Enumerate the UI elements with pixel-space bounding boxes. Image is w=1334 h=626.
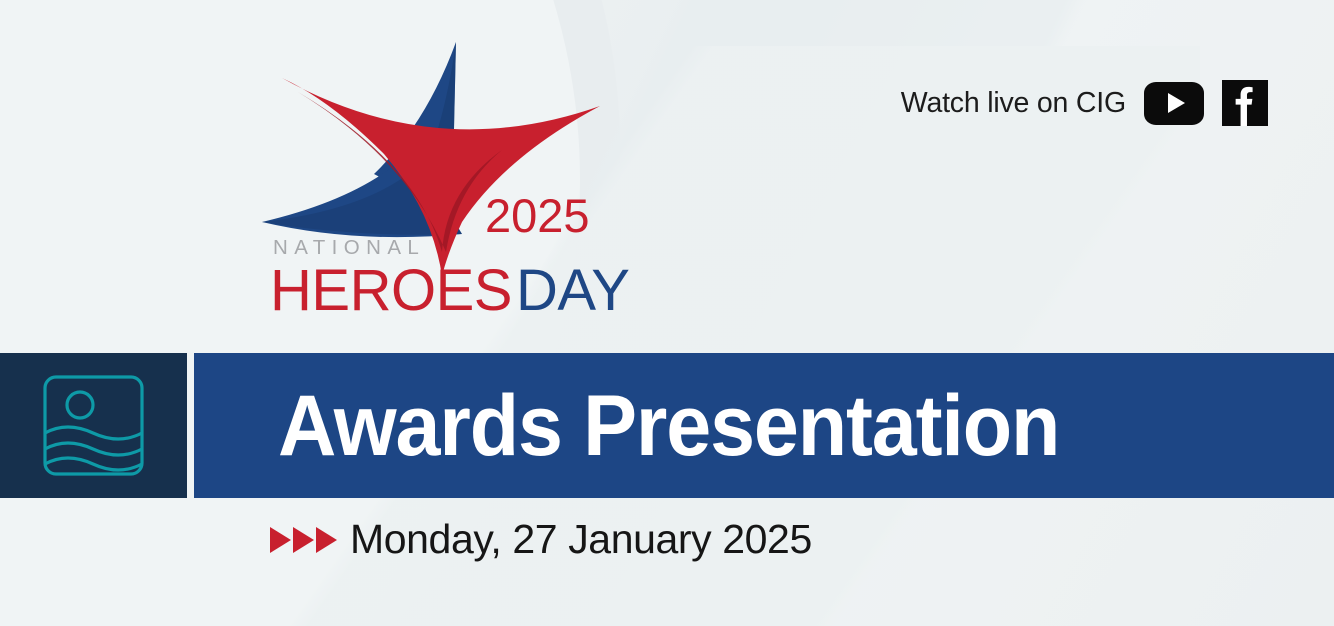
image-landscape-icon xyxy=(41,373,146,478)
banner-icon-panel xyxy=(0,353,187,498)
event-dateline: Monday, 27 January 2025 xyxy=(270,516,812,563)
watch-live-label: Watch live on CIG xyxy=(901,87,1126,120)
arrow-2-icon xyxy=(293,527,314,553)
youtube-icon[interactable] xyxy=(1144,82,1204,125)
logo-year: 2025 xyxy=(485,192,590,239)
banner-row: Awards Presentation xyxy=(0,353,1334,498)
play-triangle-icon xyxy=(1168,93,1185,113)
banner-title-panel: Awards Presentation xyxy=(194,353,1334,498)
arrow-1-icon xyxy=(270,527,291,553)
logo-word-heroes: HEROES xyxy=(270,262,512,320)
logo-wordmark: NATIONAL HEROES DAY 2025 xyxy=(270,238,600,320)
facebook-icon[interactable] xyxy=(1222,80,1268,126)
logo-word-day: DAY xyxy=(516,262,629,320)
event-banner-graphic: NATIONAL HEROES DAY 2025 Watch live on C… xyxy=(0,0,1334,626)
watch-live-group: Watch live on CIG xyxy=(901,80,1268,126)
facebook-f-glyph xyxy=(1222,80,1268,126)
page-title: Awards Presentation xyxy=(278,383,1059,469)
event-date: Monday, 27 January 2025 xyxy=(350,516,812,563)
national-heroes-day-logo: NATIONAL HEROES DAY 2025 xyxy=(256,38,606,328)
arrow-3-icon xyxy=(316,527,337,553)
triple-play-arrow-icon xyxy=(270,527,337,553)
